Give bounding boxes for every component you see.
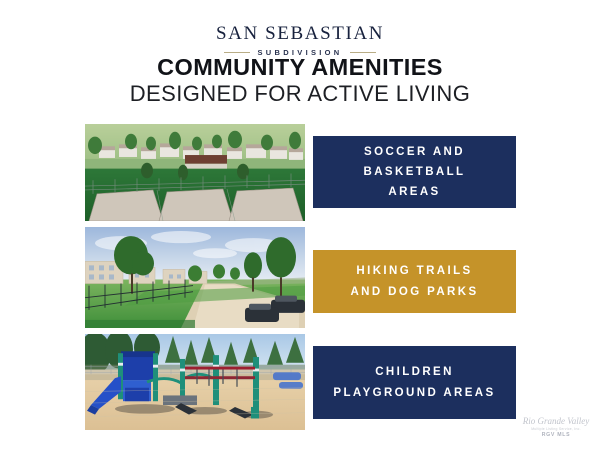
brand-rule-right <box>350 52 376 53</box>
watermark-tagline: Multiple Listing Service, Inc. <box>520 427 592 431</box>
watermark-script-text: Rio Grande Valley <box>520 417 592 426</box>
brand-name: SAN SEBASTIAN <box>0 24 600 43</box>
amenity-banner-label: SOCCER AND BASKETBALL AREAS <box>364 142 466 202</box>
amenity-banner-label: CHILDREN PLAYGROUND AREAS <box>333 362 495 402</box>
watermark-mls-label: RGV MLS <box>520 432 592 438</box>
slide-canvas: SAN SEBASTIAN SUBDIVISION COMMUNITY AMEN… <box>0 0 600 450</box>
page-title: COMMUNITY AMENITIES <box>0 55 600 80</box>
park-trail-green-space-photo <box>85 227 305 328</box>
brand-lockup: SAN SEBASTIAN SUBDIVISION <box>0 24 600 57</box>
amenity-banner-label: HIKING TRAILS AND DOG PARKS <box>350 261 478 301</box>
amenity-banner-hiking-dog-parks[interactable]: HIKING TRAILS AND DOG PARKS <box>313 250 516 313</box>
rgv-mls-watermark: Rio Grande Valley Multiple Listing Servi… <box>520 417 592 438</box>
aerial-subdivision-sports-courts-photo <box>85 124 305 221</box>
brand-rule-left <box>224 52 250 53</box>
childrens-playground-photo <box>85 334 305 430</box>
amenity-banner-soccer-basketball[interactable]: SOCCER AND BASKETBALL AREAS <box>313 136 516 208</box>
title-block: COMMUNITY AMENITIES DESIGNED FOR ACTIVE … <box>0 55 600 107</box>
amenity-banner-children-playground[interactable]: CHILDREN PLAYGROUND AREAS <box>313 346 516 419</box>
page-subtitle: DESIGNED FOR ACTIVE LIVING <box>0 82 600 107</box>
